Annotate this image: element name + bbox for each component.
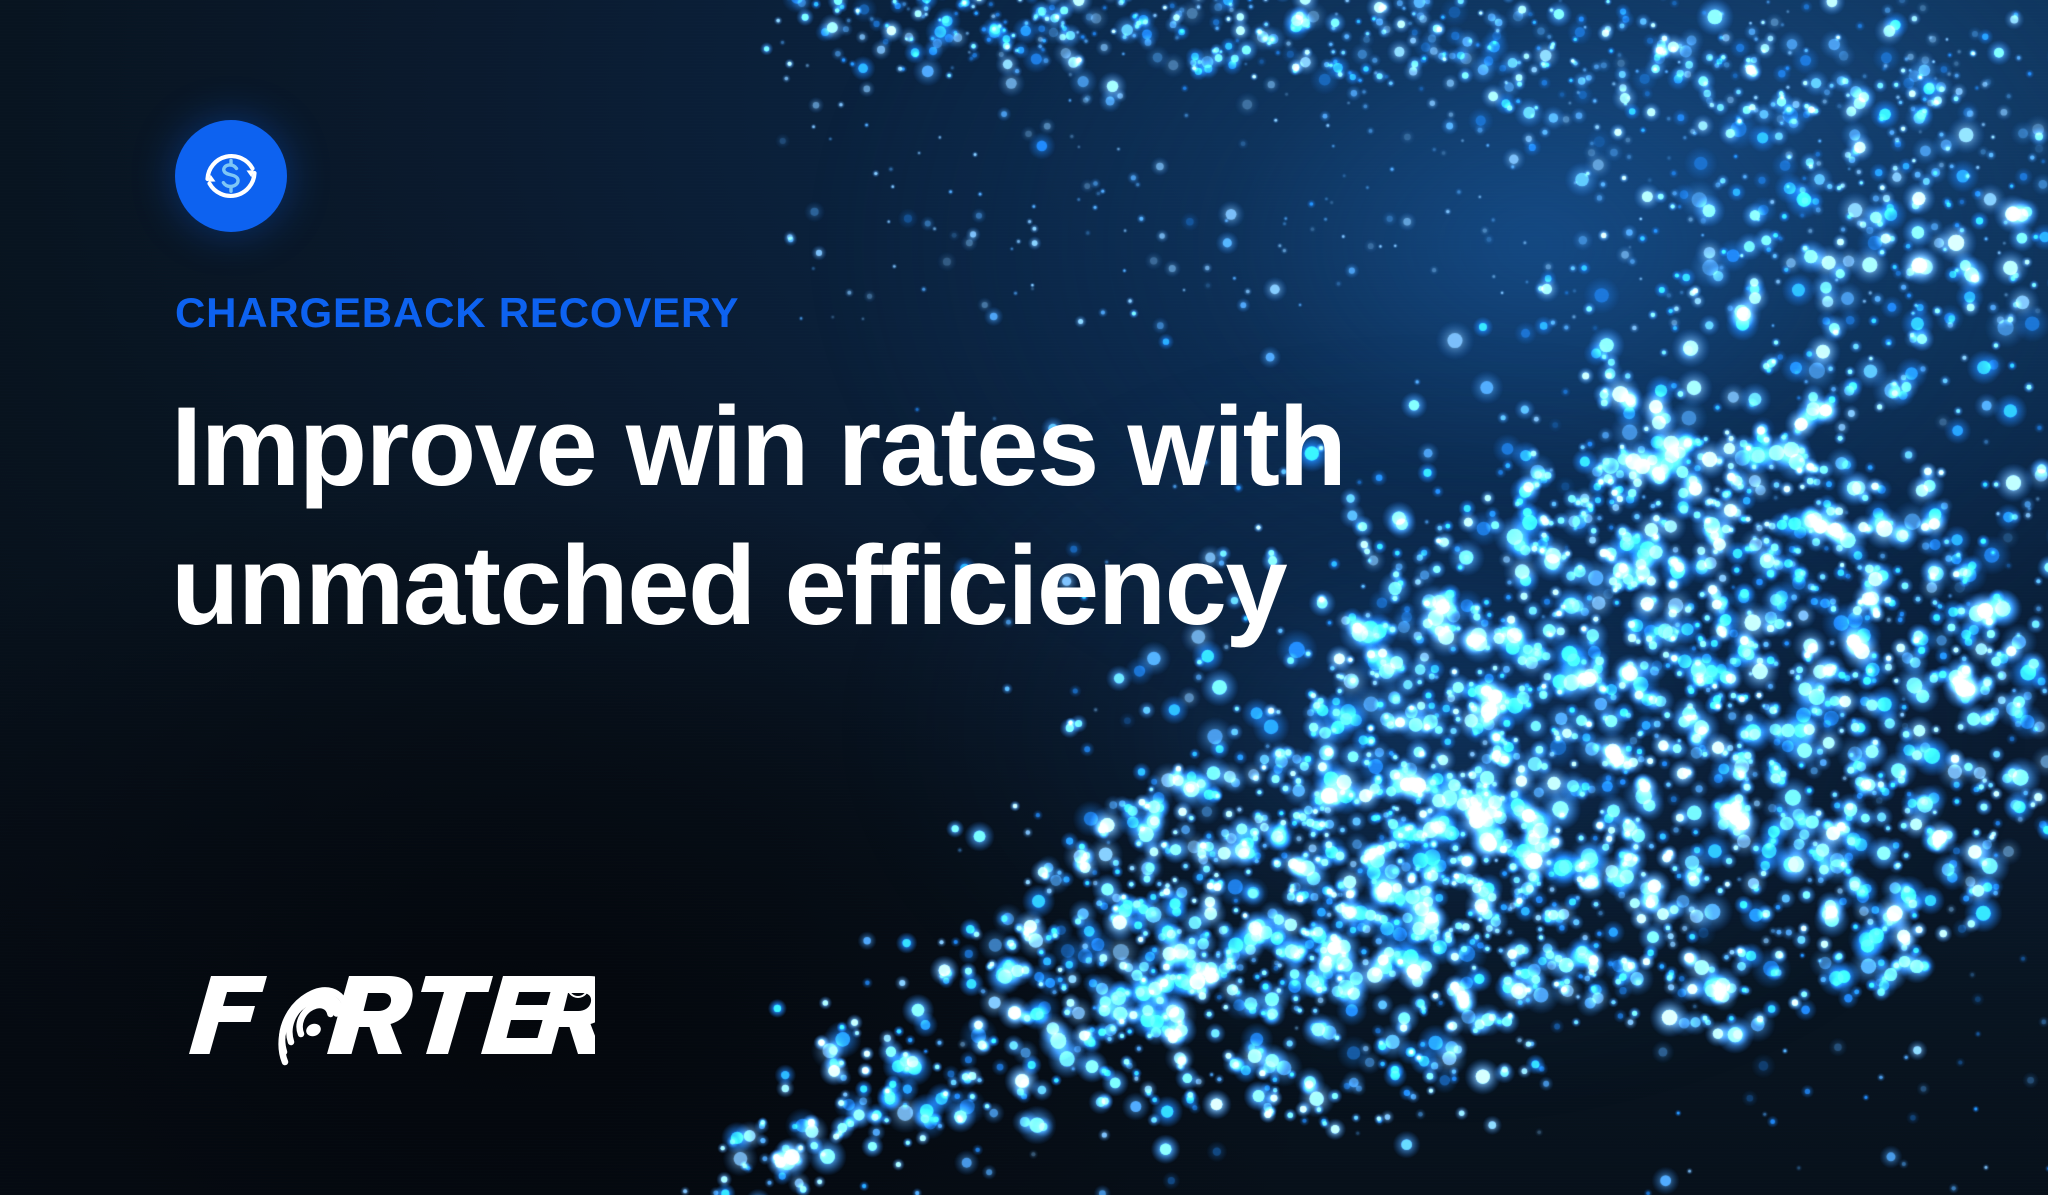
forter-logo: R [175,962,595,1068]
headline-line-2: unmatched efficiency [171,517,1345,656]
page-title: Improve win rates with unmatched efficie… [171,378,1345,656]
headline-line-1: Improve win rates with [171,378,1345,517]
eyebrow-label: CHARGEBACK RECOVERY [175,292,739,334]
hero-content: CHARGEBACK RECOVERY Improve win rates wi… [175,0,1595,1195]
hero-banner: CHARGEBACK RECOVERY Improve win rates wi… [0,0,2048,1195]
currency-refresh-icon [175,120,287,232]
svg-text:R: R [573,980,583,995]
